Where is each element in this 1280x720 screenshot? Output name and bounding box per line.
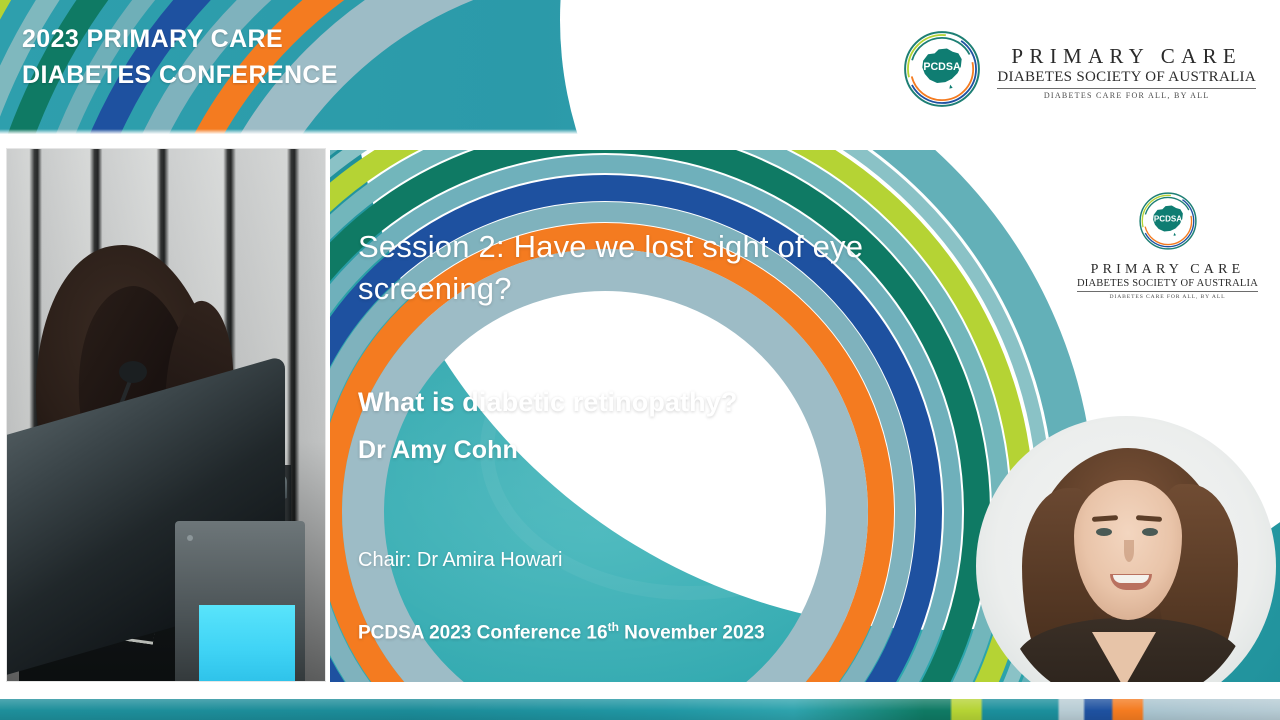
presenter-nose — [1124, 540, 1134, 562]
pcdsa-logo-wordmark: PRIMARY CARE DIABETES SOCIETY OF AUSTRAL… — [997, 44, 1256, 100]
pcdsa-roundel-icon: PCDSA — [901, 28, 983, 115]
conference-title-line2: DIABETES CONFERENCE — [22, 58, 338, 94]
slide-conference-date-ordinal: th — [608, 620, 619, 634]
pcdsa-logo: PCDSA PRIMARY CARE DIABETES SOCIETY OF A… — [901, 28, 1256, 115]
conference-title: 2023 PRIMARY CARE DIABETES CONFERENCE — [22, 22, 338, 93]
presenter-eye-left — [1096, 528, 1112, 536]
banner-bottom-fade — [0, 129, 1280, 136]
pcdsa-logo-header: PCDSA PRIMARY CARE DIABETES SOCIETY OF A… — [901, 28, 1256, 115]
svg-text:PCDSA: PCDSA — [1153, 215, 1181, 224]
slide-topic-title: What is diabetic retinopathy? — [358, 387, 918, 418]
conference-title-line1: 2023 PRIMARY CARE — [22, 25, 283, 53]
slide-chair-name: Chair: Dr Amira Howari — [358, 549, 918, 572]
monitor-power-led-icon — [187, 535, 193, 541]
slide-conference-date-prefix: PCDSA 2023 Conference 16 — [358, 622, 608, 643]
pcdsa-logo-line2: DIABETES SOCIETY OF AUSTRALIA — [1077, 278, 1258, 289]
monitor-screen — [199, 605, 295, 681]
pcdsa-logo-tagline: DIABETES CARE FOR ALL, BY ALL — [1110, 294, 1226, 300]
pcdsa-logo-line2: DIABETES SOCIETY OF AUSTRALIA — [997, 69, 1256, 86]
pcdsa-logo-line1: PRIMARY CARE — [1091, 262, 1245, 278]
pcdsa-logo-tagline: DIABETES CARE FOR ALL, BY ALL — [1044, 91, 1210, 100]
slide-presenter-name: Dr Amy Cohn — [358, 436, 918, 465]
slide-conference-date-suffix: November 2023 — [619, 622, 765, 643]
pcdsa-roundel-icon: PCDSA — [1137, 190, 1199, 257]
confidence-monitor — [175, 521, 305, 681]
presentation-slide[interactable]: PCDSA PRIMARY CARE DIABETES SOCIETY OF A… — [330, 150, 1280, 682]
slide-text-block: Session 2: Have we lost sight of eye scr… — [358, 226, 918, 644]
conference-header-banner: 2023 PRIMARY CARE DIABETES CONFERENCE PC… — [0, 0, 1280, 136]
microphone-head-icon — [119, 361, 147, 383]
slide-session-title: Session 2: Have we lost sight of eye scr… — [358, 226, 918, 309]
pcdsa-logo-wordmark: PRIMARY CARE DIABETES SOCIETY OF AUSTRAL… — [1077, 262, 1258, 300]
presenter-eye-right — [1142, 528, 1158, 536]
footer-sheen — [0, 699, 1280, 720]
speaker-camera-panel[interactable] — [6, 148, 326, 682]
footer-ribbon-strip — [0, 699, 1280, 720]
pcdsa-logo: PCDSA PRIMARY CARE DIABETES SOCIETY OF A… — [1077, 190, 1258, 300]
pcdsa-logo-divider — [997, 88, 1256, 89]
pcdsa-logo-slide: PCDSA PRIMARY CARE DIABETES SOCIETY OF A… — [1077, 190, 1258, 300]
svg-text:PCDSA: PCDSA — [924, 61, 962, 73]
conference-video-frame: 2023 PRIMARY CARE DIABETES CONFERENCE PC… — [0, 0, 1280, 720]
presenter-teeth — [1113, 575, 1149, 583]
slide-conference-date: PCDSA 2023 Conference 16th November 2023 — [358, 620, 918, 644]
pcdsa-logo-divider — [1077, 291, 1258, 292]
pcdsa-logo-line1: PRIMARY CARE — [1011, 44, 1242, 69]
pcdsa-roundel-svg: PCDSA — [901, 28, 983, 110]
pcdsa-roundel-svg: PCDSA — [1137, 190, 1199, 252]
